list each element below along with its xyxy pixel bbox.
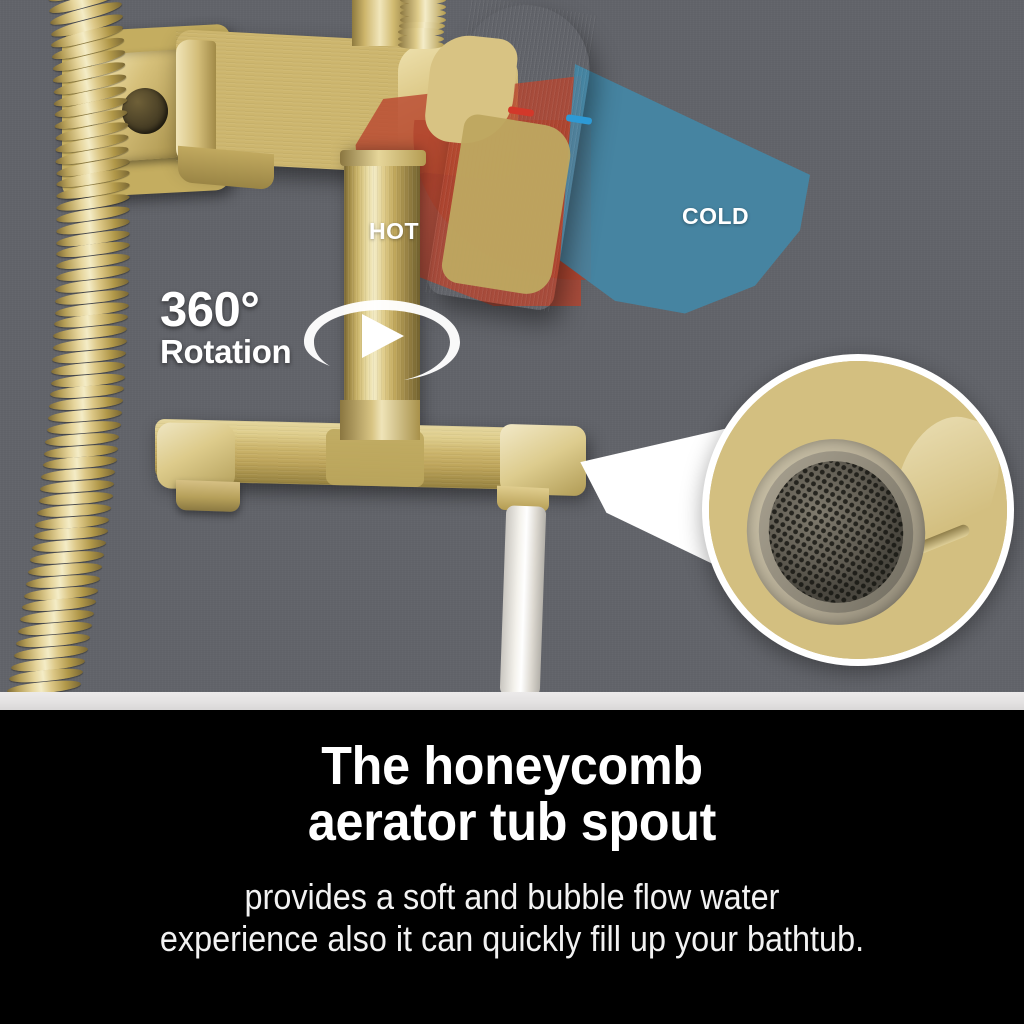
hot-label: HOT <box>369 218 419 245</box>
escutcheon-bolt <box>122 88 168 134</box>
caption-panel: The honeycomb aerator tub spout provides… <box>0 710 1024 1024</box>
headline-line-2: aerator tub spout <box>36 794 988 850</box>
product-photo: HOT COLD 360° Rotation <box>0 0 1024 692</box>
subheadline-line-1: provides a soft and bubble flow water <box>51 876 973 918</box>
honeycomb-cells <box>756 449 917 616</box>
rotation-word: Rotation <box>160 336 291 368</box>
riser-collar <box>340 150 426 166</box>
magnifier-circle <box>702 354 1014 666</box>
rotation-callout: 360° Rotation <box>160 286 291 368</box>
product-feature-graphic: HOT COLD 360° Rotation <box>0 0 1024 1024</box>
headline: The honeycomb aerator tub spout <box>36 710 988 850</box>
subheadline-line-2: experience also it can quickly fill up y… <box>51 918 973 960</box>
headline-line-1: The honeycomb <box>36 738 988 794</box>
honeycomb-mesh <box>756 449 917 616</box>
cold-label: COLD <box>682 203 749 230</box>
magnifier-content <box>709 361 1007 659</box>
spout-aerator-outlet <box>176 480 240 512</box>
circular-rotation-arrow-icon <box>300 292 465 384</box>
subheadline: provides a soft and bubble flow water ex… <box>51 850 973 960</box>
spout-riser-joint <box>340 400 420 440</box>
riser-coil-hose <box>398 0 448 48</box>
lower-coiled-hose <box>520 470 560 692</box>
section-divider <box>0 692 1024 710</box>
coiled-shower-hose <box>0 0 112 692</box>
riser-coil-segment <box>398 41 444 49</box>
tub-spout-left-cap <box>157 422 235 489</box>
rotation-degrees: 360° <box>160 286 291 334</box>
